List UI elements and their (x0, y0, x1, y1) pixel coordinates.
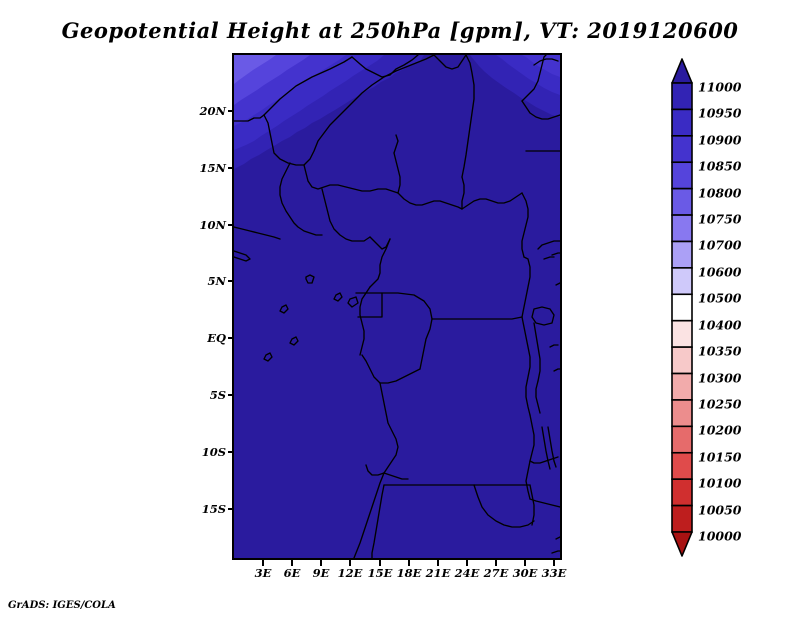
lon-label-18e: 18E (397, 566, 422, 580)
lat-tick-10s (228, 451, 234, 453)
lon-tick-9e (320, 560, 322, 566)
page-title: Geopotential Height at 250hPa [gpm], VT:… (0, 18, 800, 43)
lon-tick-12e (349, 560, 351, 566)
colorbar-tick-10000: 10000 (698, 529, 742, 544)
lon-label-24e: 24E (455, 566, 480, 580)
colorbar-tick-10250: 10250 (698, 396, 742, 411)
lat-tick-15n (228, 167, 234, 169)
colorbar-tick-10100: 10100 (698, 476, 742, 491)
lat-label-15s: 15S (190, 502, 226, 516)
colorbar-tick-10900: 10900 (698, 132, 742, 147)
colorbar-tick-10800: 10800 (698, 185, 742, 200)
colorbar-tick-10400: 10400 (698, 317, 742, 332)
lon-tick-24e (466, 560, 468, 566)
lat-label-eq: EQ (190, 331, 226, 345)
lon-label-27e: 27E (484, 566, 509, 580)
lat-tick-5n (228, 280, 234, 282)
contour-shading-layer (234, 55, 560, 558)
lon-tick-30e (524, 560, 526, 566)
lon-label-6e: 6E (284, 566, 301, 580)
colorbar-swatches (671, 58, 693, 557)
lon-tick-27e (495, 560, 497, 566)
lon-tick-3e (262, 560, 264, 566)
colorbar-tick-10350: 10350 (698, 344, 742, 359)
lon-tick-6e (291, 560, 293, 566)
colorbar-tick-10200: 10200 (698, 423, 742, 438)
lat-label-15n: 15N (190, 161, 226, 175)
colorbar-tick-10150: 10150 (698, 449, 742, 464)
lon-label-21e: 21E (426, 566, 451, 580)
colorbar-tick-10750: 10750 (698, 212, 742, 227)
lon-label-3e: 3E (255, 566, 272, 580)
colorbar-tick-10300: 10300 (698, 370, 742, 385)
credit-text: GrADS: IGES/COLA (8, 600, 116, 611)
colorbar-tick-11000: 11000 (698, 80, 742, 95)
colorbar-tick-10850: 10850 (698, 159, 742, 174)
lon-label-12e: 12E (338, 566, 363, 580)
colorbar-tick-10500: 10500 (698, 291, 742, 306)
lat-tick-eq (228, 337, 234, 339)
lon-label-30e: 30E (513, 566, 538, 580)
lat-tick-20n (228, 110, 234, 112)
lat-label-5n: 5N (190, 274, 226, 288)
map-panel[interactable] (232, 53, 562, 560)
lat-label-10s: 10S (190, 445, 226, 459)
lon-label-9e: 9E (313, 566, 330, 580)
lat-label-20n: 20N (190, 104, 226, 118)
colorbar-tick-10700: 10700 (698, 238, 742, 253)
lat-label-5s: 5S (190, 388, 226, 402)
lon-tick-33e (553, 560, 555, 566)
colorbar-tick-10050: 10050 (698, 502, 742, 517)
lon-label-15e: 15E (368, 566, 393, 580)
colorbar-tick-10600: 10600 (698, 264, 742, 279)
lon-label-33e: 33E (542, 566, 567, 580)
lon-tick-18e (408, 560, 410, 566)
lat-label-10n: 10N (190, 218, 226, 232)
lat-tick-10n (228, 224, 234, 226)
lat-tick-5s (228, 394, 234, 396)
colorbar-tick-10950: 10950 (698, 106, 742, 121)
lon-tick-21e (437, 560, 439, 566)
lat-tick-15s (228, 508, 234, 510)
colorbar[interactable] (671, 58, 693, 557)
lon-tick-15e (379, 560, 381, 566)
